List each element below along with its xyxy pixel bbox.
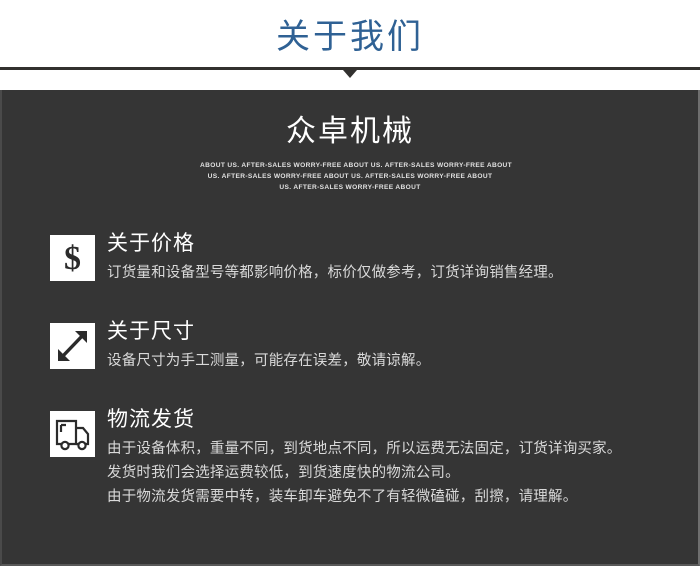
about-panel: 众卓机械 ABOUT US. AFTER-SALES WORRY-FREE AB… — [0, 90, 700, 566]
brand-tagline-line-3: US. AFTER-SALES WORRY-FREE ABOUT — [200, 182, 500, 193]
brand-name: 众卓机械 — [2, 90, 698, 150]
feature-body: 设备尺寸为手工测量，可能存在误差，敬请谅解。 — [107, 349, 698, 373]
feature-item-price: $ 关于价格 订货量和设备型号等都影响价格，标价仅做参考，订货详询销售经理。 — [50, 231, 698, 291]
page-header: 关于我们 — [0, 0, 700, 90]
caret-down-icon — [343, 70, 357, 78]
feature-title: 关于尺寸 — [107, 319, 698, 345]
feature-item-logistics: 物流发货 由于设备体积，重量不同，到货地点不同，所以运费无法固定，订货详询买家。… — [50, 407, 698, 509]
dollar-icon: $ — [50, 235, 95, 281]
feature-title: 关于价格 — [107, 231, 698, 257]
bottom-spacer — [0, 566, 700, 572]
feature-body: 订货量和设备型号等都影响价格，标价仅做参考，订货详询销售经理。 — [107, 261, 698, 285]
feature-body-line: 设备尺寸为手工测量，可能存在误差，敬请谅解。 — [107, 349, 698, 373]
brand-tagline-line-2: US. AFTER-SALES WORRY-FREE ABOUT US. AFT… — [200, 171, 500, 182]
svg-text:$: $ — [64, 240, 81, 277]
brand-tagline-line-1: ABOUT US. AFTER-SALES WORRY-FREE ABOUT U… — [200, 160, 500, 171]
truck-icon — [50, 411, 95, 457]
feature-body-line: 由于设备体积，重量不同，到货地点不同，所以运费无法固定，订货详询买家。 — [107, 437, 698, 461]
feature-title: 物流发货 — [107, 407, 698, 433]
feature-body-line: 订货量和设备型号等都影响价格，标价仅做参考，订货详询销售经理。 — [107, 261, 698, 285]
page-title: 关于我们 — [0, 16, 700, 58]
feature-body: 由于设备体积，重量不同，到货地点不同，所以运费无法固定，订货详询买家。 发货时我… — [107, 437, 698, 509]
brand-tagline: ABOUT US. AFTER-SALES WORRY-FREE ABOUT U… — [200, 160, 500, 193]
feature-list: $ 关于价格 订货量和设备型号等都影响价格，标价仅做参考，订货详询销售经理。 关… — [2, 231, 698, 509]
feature-body-line: 发货时我们会选择运费较低，到货速度快的物流公司。 — [107, 461, 698, 485]
feature-body-line: 由于物流发货需要中转，装车卸车避免不了有轻微磕碰，刮擦，请理解。 — [107, 485, 698, 509]
feature-item-size: 关于尺寸 设备尺寸为手工测量，可能存在误差，敬请谅解。 — [50, 319, 698, 379]
resize-arrow-icon — [50, 323, 95, 369]
